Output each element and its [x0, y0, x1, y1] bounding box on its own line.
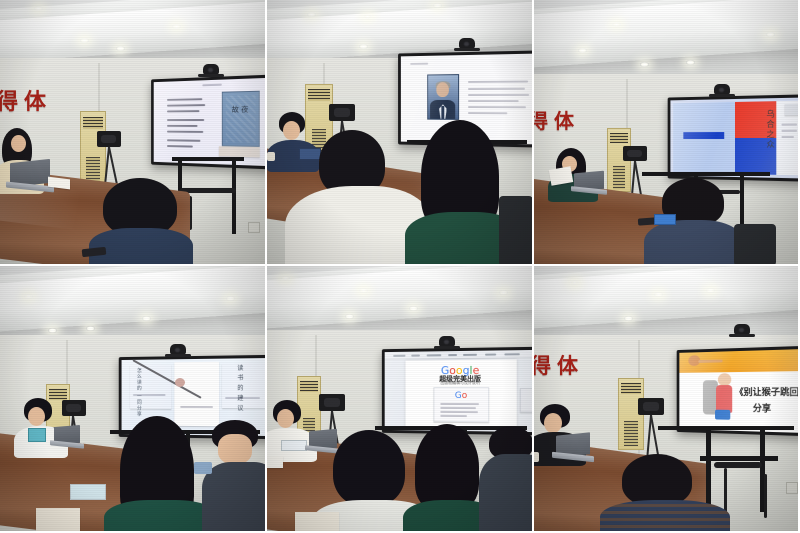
wall-slogan: 得体	[534, 350, 584, 380]
camera-mount	[709, 94, 735, 97]
speaker	[623, 146, 647, 161]
slide-book-cover: 故 夜	[154, 78, 265, 167]
wall-socket	[248, 222, 260, 233]
slide-cartoon-title: 《别让猴子跳回背上》 分享	[679, 349, 798, 433]
slide-thumbnail	[785, 104, 798, 115]
person-man-striped-shirt	[608, 454, 716, 531]
screen-surface: 乌合之众	[670, 98, 798, 179]
slide-vertical-text-left: 怎么读的 一同分享	[136, 367, 143, 417]
downlight-icon	[499, 290, 508, 295]
downlight-icon	[48, 328, 57, 333]
downlight-icon	[640, 62, 649, 67]
portrait-photo	[427, 74, 459, 120]
slide-color-block-cover: 乌合之众	[670, 98, 798, 179]
downlight-icon	[86, 326, 95, 331]
camera-mount	[729, 334, 755, 337]
downlight-icon	[116, 46, 125, 51]
downlight-icon	[706, 288, 715, 293]
screen-surface: Google 超级完美出版 出版物编辑与设计说明 Go	[385, 350, 532, 432]
downlight-icon	[570, 280, 579, 285]
inner-logo: Go	[434, 391, 488, 401]
cartoon-bag	[715, 410, 730, 420]
office-chair	[734, 224, 776, 264]
photo-panel-6: 得体 《别让猴子跳回背上》 分享	[534, 266, 798, 531]
downlight-icon	[433, 3, 442, 8]
downlight-icon	[345, 314, 354, 319]
book	[28, 428, 46, 442]
person-attendee-white-shirt	[291, 130, 411, 264]
downlight-icon	[363, 14, 372, 19]
photo-panel-2	[267, 0, 532, 264]
screen-stand-bar	[172, 157, 244, 161]
display-screen: 故 夜	[151, 74, 265, 169]
display-screen: 乌合之众	[668, 94, 798, 181]
photo-panel-5: Google 超级完美出版 出版物编辑与设计说明 Go	[267, 266, 532, 531]
speaker	[97, 131, 121, 147]
wall-socket	[786, 482, 798, 494]
screen-surface: 《别让猴子跳回背上》 分享	[679, 349, 798, 433]
photo-panel-3: 得体 乌合之众	[534, 0, 798, 264]
cup	[534, 452, 539, 462]
book-cover-image: 故 夜	[221, 90, 259, 146]
book-title: 故 夜	[222, 106, 258, 115]
document-side-thumbnail	[520, 388, 532, 413]
downlight-icon	[578, 48, 587, 53]
downlight-icon	[624, 316, 633, 321]
person-man-glasses	[208, 420, 265, 531]
books	[70, 484, 106, 500]
downlight-icon	[409, 306, 418, 311]
document-google-page: Google 超级完美出版 出版物编辑与设计说明 Go	[385, 350, 532, 432]
wall-slogan: 得体	[0, 84, 52, 116]
downlight-icon	[80, 38, 89, 43]
camera-mount	[198, 74, 224, 77]
photo-panel-1: 得体 故 夜	[0, 0, 265, 264]
slide-title-line2: 分享	[753, 401, 771, 414]
camera-mount	[454, 48, 480, 51]
phone	[194, 462, 212, 474]
display-screen: Google 超级完美出版 出版物编辑与设计说明 Go	[382, 347, 532, 436]
slide-title-line1: 《别让猴子跳回背上》	[735, 384, 798, 398]
person-attendee-front-right	[485, 426, 532, 531]
photo-collage: 得体 故 夜	[0, 0, 800, 533]
downlight-icon	[226, 296, 235, 301]
speaker	[329, 104, 355, 121]
downlight-icon	[654, 292, 663, 297]
screen-stand-leg	[740, 172, 744, 228]
air-conditioner	[80, 111, 106, 188]
screen-surface: 故 夜	[154, 78, 265, 167]
downlight-icon	[359, 44, 368, 49]
book	[295, 512, 339, 531]
screen-stand-leg	[232, 158, 236, 234]
downlight-icon	[686, 60, 695, 65]
downlight-icon	[24, 294, 33, 299]
cable	[764, 474, 767, 518]
cup	[267, 152, 275, 161]
office-chair	[499, 196, 532, 264]
books	[281, 440, 307, 451]
wall-slogan: 得体	[534, 105, 580, 134]
paper	[267, 456, 283, 468]
photo-panel-4: 怎么读的 一同分享 读 书 的 建 议	[0, 266, 265, 531]
downlight-icon	[612, 22, 621, 27]
screen-stand-bar	[642, 172, 770, 176]
downlight-icon	[281, 276, 290, 281]
downlight-icon	[307, 12, 316, 17]
speaker	[319, 394, 345, 411]
screen-stand-bar	[658, 426, 794, 430]
box	[36, 508, 80, 531]
downlight-icon	[172, 24, 181, 29]
speaker	[638, 398, 664, 415]
camera-mount	[434, 346, 460, 349]
person-man-foreground	[95, 178, 185, 264]
camera-mount	[165, 354, 191, 357]
book-title: 乌合之众	[765, 109, 776, 150]
downlight-icon	[34, 6, 43, 11]
pointer-tip	[175, 378, 185, 387]
downlight-icon	[142, 316, 151, 321]
document-inner-card: Go	[433, 387, 489, 422]
downlight-icon	[766, 32, 775, 37]
book	[654, 214, 676, 225]
slide-vertical-text-right: 读 书 的 建 议	[235, 365, 244, 412]
document-page: Google 超级完美出版 出版物编辑与设计说明 Go	[405, 359, 517, 429]
downlight-icon	[359, 288, 368, 293]
document-subtitle: 出版物编辑与设计说明	[405, 380, 517, 386]
display-screen: 《别让猴子跳回背上》 分享	[677, 346, 798, 437]
cable	[714, 462, 762, 468]
